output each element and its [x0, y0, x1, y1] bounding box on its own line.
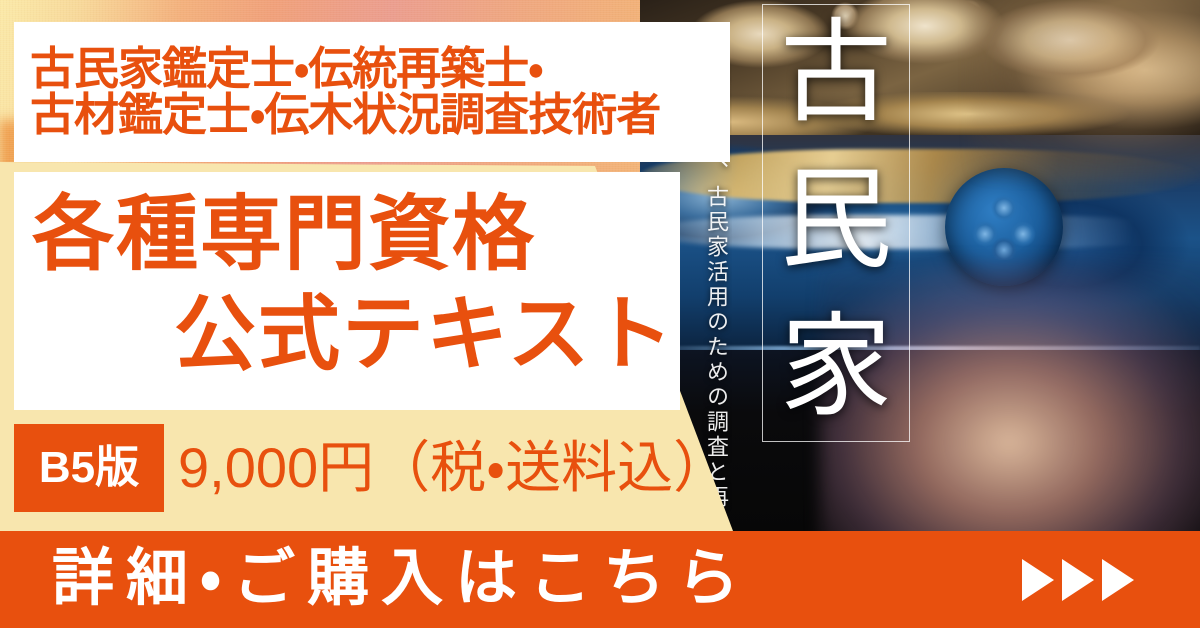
main-copy-line-1: 各種専門資格 — [32, 194, 536, 276]
headline-line-2: 古材鑑定士・伝木状況調査技術者 — [30, 92, 660, 138]
cta-bar[interactable]: 詳細・ご購入はこちら — [0, 531, 1200, 628]
headline-line-1: 古民家鑑定士・伝統再築士・ — [30, 46, 660, 92]
cover-title: 古 民 家 — [768, 10, 904, 440]
cover-title-char-2: 民 — [780, 165, 892, 277]
triangle-right-icon — [1102, 559, 1134, 601]
format-badge-label: B5版 — [39, 446, 139, 490]
cta-arrows — [1022, 559, 1134, 601]
format-badge: B5版 — [14, 424, 164, 512]
triangle-right-icon — [1062, 559, 1094, 601]
headline-panel: 古民家鑑定士・伝統再築士・ 古材鑑定士・伝木状況調査技術者 — [14, 22, 730, 162]
main-copy-panel: 各種専門資格 公式テキスト — [14, 172, 680, 410]
cover-glow-top-right — [970, 0, 1200, 180]
triangle-right-icon — [1022, 559, 1054, 601]
price-text: 9,000円（税・送料込） — [178, 432, 729, 505]
cover-title-char-1: 古 — [780, 18, 892, 130]
cta-label[interactable]: 詳細・ご購入はこちら — [52, 547, 751, 609]
main-copy-line-2: 公式テキスト — [174, 294, 676, 376]
promo-banner: 古 民 家 伝統構法、古民家活用のための調査と再生の 古民家鑑定士・伝統再築士・… — [0, 0, 1200, 628]
cover-title-char-3: 家 — [780, 312, 892, 424]
